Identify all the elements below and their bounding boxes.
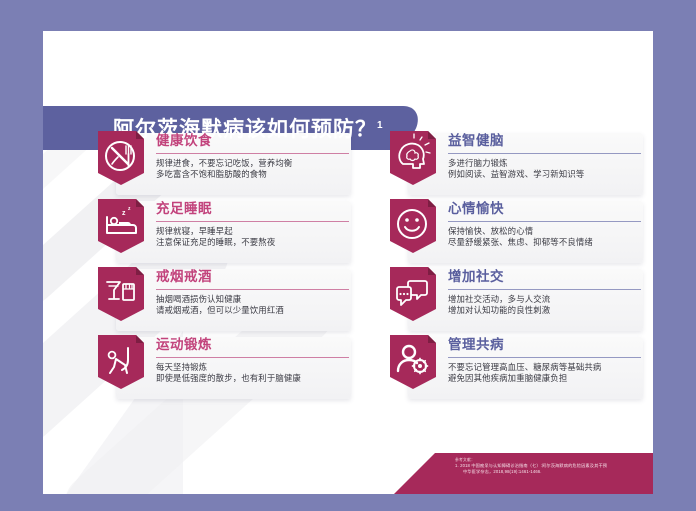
card-description-line2: 注意保证充足的睡眠，不要熬夜: [156, 237, 349, 248]
card-description-line1: 抽烟喝酒损伤认知健康: [156, 294, 349, 305]
card-divider: [448, 153, 641, 154]
card-content: 管理共病 不要忘记管理高血压、糖尿病等基础共病 避免因其他疾病加重脑健康负担: [448, 337, 641, 384]
card-healthy-diet[interactable]: 健康饮食 规律进食，不要忘记吃饭，营养均衡 多吃富含不饱和脂肪酸的食物: [98, 131, 351, 171]
card-description-line1: 保持愉快、放松的心情: [448, 226, 641, 237]
card-title: 心情愉快: [448, 201, 641, 219]
card-content: 运动锻炼 每天坚持锻炼 即使是低强度的散步，也有利于脑健康: [156, 337, 349, 384]
no-fork-knife-icon: [98, 131, 144, 185]
card-description-line1: 多进行脑力锻炼: [448, 158, 641, 169]
card-content: 充足睡眠 规律就寝，早睡早起 注意保证充足的睡眠，不要熬夜: [156, 201, 349, 248]
bed-sleep-icon: z z: [98, 199, 144, 253]
card-description-line2: 增加对认知功能的良性刺激: [448, 305, 641, 316]
card-title: 管理共病: [448, 337, 641, 355]
no-alcohol-cigarette-icon: [98, 267, 144, 321]
brain-head-icon: [390, 131, 436, 185]
card-divider: [448, 221, 641, 222]
card-content: 增加社交 增加社交活动，多与人交流 增加对认知功能的良性刺激: [448, 269, 641, 316]
card-title: 戒烟戒酒: [156, 269, 349, 287]
card-description-line1: 规律就寝，早睡早起: [156, 226, 349, 237]
card-description-line1: 规律进食，不要忘记吃饭，营养均衡: [156, 158, 349, 169]
card-description-line2: 即使是低强度的散步，也有利于脑健康: [156, 373, 349, 384]
card-description-line1: 不要忘记管理高血压、糖尿病等基础共病: [448, 362, 641, 373]
speech-bubbles-icon: [390, 267, 436, 321]
page-title-superscript: 1: [377, 120, 384, 131]
card-divider: [448, 357, 641, 358]
slide-canvas: 阿尔茨海默病该如何预防？1: [0, 0, 696, 511]
card-title: 运动锻炼: [156, 337, 349, 355]
card-content: 心情愉快 保持愉快、放松的心情 尽量舒缓紧张、焦虑、抑郁等不良情绪: [448, 201, 641, 248]
prevention-card-grid: 健康饮食 规律进食，不要忘记吃饭，营养均衡 多吃富含不饱和脂肪酸的食物: [98, 131, 643, 375]
running-person-icon: [98, 335, 144, 389]
svg-text:z: z: [122, 210, 126, 217]
card-divider: [448, 289, 641, 290]
card-title: 健康饮食: [156, 133, 349, 151]
card-description-line2: 请戒烟戒酒，但可以少量饮用红酒: [156, 305, 349, 316]
card-divider: [156, 153, 349, 154]
card-description-line2: 多吃富含不饱和脂肪酸的食物: [156, 169, 349, 180]
card-social-activity[interactable]: 增加社交 增加社交活动，多与人交流 增加对认知功能的良性刺激: [390, 267, 643, 307]
card-description-line2: 尽量舒缓紧张、焦虑、抑郁等不良情绪: [448, 237, 641, 248]
card-physical-exercise[interactable]: 运动锻炼 每天坚持锻炼 即使是低强度的散步，也有利于脑健康: [98, 335, 351, 375]
card-description-line1: 增加社交活动，多与人交流: [448, 294, 641, 305]
card-happy-mood[interactable]: 心情愉快 保持愉快、放松的心情 尽量舒缓紧张、焦虑、抑郁等不良情绪: [390, 199, 643, 239]
card-quit-smoking-drinking[interactable]: 戒烟戒酒 抽烟喝酒损伤认知健康 请戒烟戒酒，但可以少量饮用红酒: [98, 267, 351, 307]
card-description-line2: 避免因其他疾病加重脑健康负担: [448, 373, 641, 384]
page-sheet: 阿尔茨海默病该如何预防？1: [43, 31, 653, 494]
reference-line-2: 中华医学杂志，2018,98(19):1461-1466.: [455, 469, 653, 475]
card-divider: [156, 357, 349, 358]
person-gear-icon: [390, 335, 436, 389]
card-content: 益智健脑 多进行脑力锻炼 例如阅读、益智游戏、学习新知识等: [448, 133, 641, 180]
card-comorbidity-management[interactable]: 管理共病 不要忘记管理高血压、糖尿病等基础共病 避免因其他疾病加重脑健康负担: [390, 335, 643, 375]
reference-content: 参考文献： 1. 2018 中国痴呆与认知障碍诊治指南（七）:阿尔茨海默病的危险…: [393, 453, 653, 475]
card-divider: [156, 289, 349, 290]
card-content: 戒烟戒酒 抽烟喝酒损伤认知健康 请戒烟戒酒，但可以少量饮用红酒: [156, 269, 349, 316]
card-brain-training[interactable]: 益智健脑 多进行脑力锻炼 例如阅读、益智游戏、学习新知识等: [390, 131, 643, 171]
card-divider: [156, 221, 349, 222]
card-description-line1: 每天坚持锻炼: [156, 362, 349, 373]
card-title: 充足睡眠: [156, 201, 349, 219]
card-title: 益智健脑: [448, 133, 641, 151]
card-title: 增加社交: [448, 269, 641, 287]
card-description-line2: 例如阅读、益智游戏、学习新知识等: [448, 169, 641, 180]
smiley-face-icon: [390, 199, 436, 253]
reference-banner: 参考文献： 1. 2018 中国痴呆与认知障碍诊治指南（七）:阿尔茨海默病的危险…: [393, 453, 653, 494]
card-content: 健康饮食 规律进食，不要忘记吃饭，营养均衡 多吃富含不饱和脂肪酸的食物: [156, 133, 349, 180]
card-sufficient-sleep[interactable]: z z 充足睡眠 规律就寝，早睡早起 注意保证充足的睡眠，不要熬夜: [98, 199, 351, 239]
